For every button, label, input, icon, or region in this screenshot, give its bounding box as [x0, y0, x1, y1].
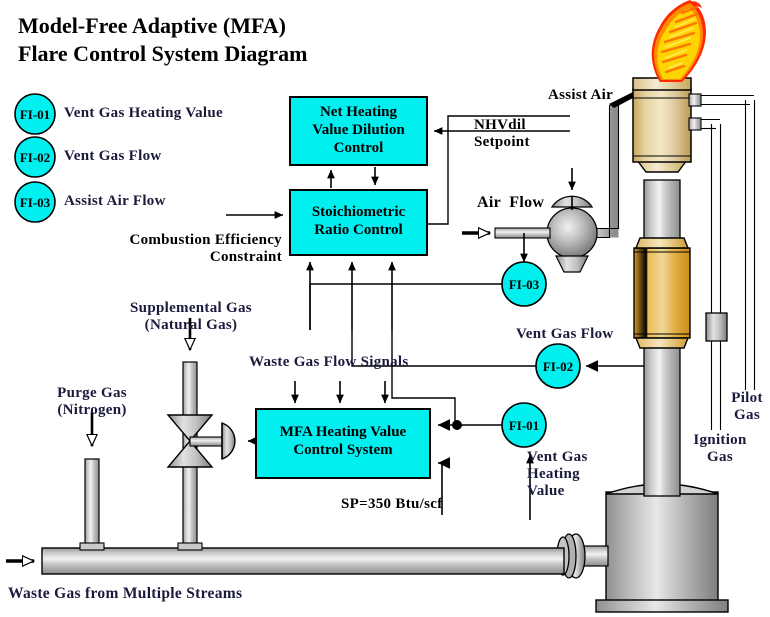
flare-tip: [633, 78, 701, 172]
title-line-1: Model-Free Adaptive (MFA): [18, 13, 286, 38]
ignition-gas-label: Ignition Gas: [681, 432, 759, 466]
supplemental-line-2: (Natural Gas): [145, 317, 238, 333]
fi03-signal-line: [310, 284, 503, 330]
constraint-line-1: Combustion Efficiency: [129, 232, 282, 248]
supplemental-gas-label: Supplemental Gas (Natural Gas): [116, 300, 266, 334]
flare-control-diagram: Model-Free Adaptive (MFA) Flare Control …: [0, 0, 770, 617]
legend-bubble-fi03[interactable]: [15, 182, 55, 222]
nhv-dilution-control-box[interactable]: [290, 97, 427, 165]
air-flow-label: Air Flow: [477, 194, 544, 212]
pilot-line-1: Pilot: [731, 390, 763, 406]
mfa-control-system-box[interactable]: [256, 409, 430, 478]
pilot-line-2: Gas: [734, 407, 760, 423]
vent-gas-heating-value-label: Vent Gas Heating Value: [527, 449, 588, 499]
page-title: Model-Free Adaptive (MFA) Flare Control …: [18, 12, 307, 67]
purge-gas-label: Purge Gas (Nitrogen): [30, 385, 154, 419]
vghv-line-2: Heating: [527, 466, 580, 482]
purge-line-2: (Nitrogen): [57, 402, 126, 418]
signal-junction-dot: [452, 420, 462, 430]
instrument-bubble-fi01[interactable]: [502, 403, 546, 447]
nhvdil-line-2: Setpoint: [474, 134, 530, 150]
nhvdil-line-1: NHVdil: [474, 117, 526, 133]
waste-gas-header-label: Waste Gas from Multiple Streams: [8, 585, 242, 602]
instrument-bubble-fi02[interactable]: [536, 344, 580, 388]
stoichiometric-ratio-control-box[interactable]: [290, 190, 427, 255]
vent-gas-flow-label: Vent Gas Flow: [516, 326, 614, 343]
vghv-line-1: Vent Gas: [527, 449, 588, 465]
ignition-gas-pipe: [701, 120, 727, 431]
title-line-2: Flare Control System Diagram: [18, 41, 307, 66]
waste-gas-header-pipe: [42, 548, 564, 574]
combustion-constraint-label: Combustion Efficiency Constraint: [112, 232, 282, 266]
flare-flame: [652, 0, 706, 82]
pilot-gas-pipe: [701, 96, 755, 391]
stack-gold-section: [634, 238, 690, 348]
waste-gas-flow-signals-label: Waste Gas Flow Signals: [249, 354, 409, 371]
assist-air-label: Assist Air: [548, 87, 613, 104]
legend-bubble-fi01[interactable]: [15, 94, 55, 134]
ignition-line-1: Ignition: [693, 432, 746, 448]
setpoint-label: SP=350 Btu/scf: [341, 496, 443, 513]
instrument-bubble-fi03[interactable]: [502, 262, 546, 306]
purge-line-1: Purge Gas: [57, 385, 127, 401]
knockout-drum: [596, 484, 728, 612]
pilot-gas-label: Pilot Gas: [725, 390, 769, 424]
legend-label-fi03: Assist Air Flow: [64, 193, 166, 210]
vghv-line-3: Value: [527, 483, 565, 499]
supplemental-line-1: Supplemental Gas: [130, 300, 252, 316]
purge-gas-branch: [80, 459, 104, 550]
legend-label-fi01: Vent Gas Heating Value: [64, 105, 223, 122]
nhvdil-setpoint-label: NHVdil Setpoint: [474, 117, 530, 151]
constraint-line-2: Constraint: [210, 249, 282, 265]
legend-bubble-fi02[interactable]: [15, 137, 55, 177]
ignition-line-2: Gas: [707, 449, 733, 465]
supplemental-gas-control-valve: [168, 415, 235, 467]
legend-label-fi02: Vent Gas Flow: [64, 148, 162, 165]
